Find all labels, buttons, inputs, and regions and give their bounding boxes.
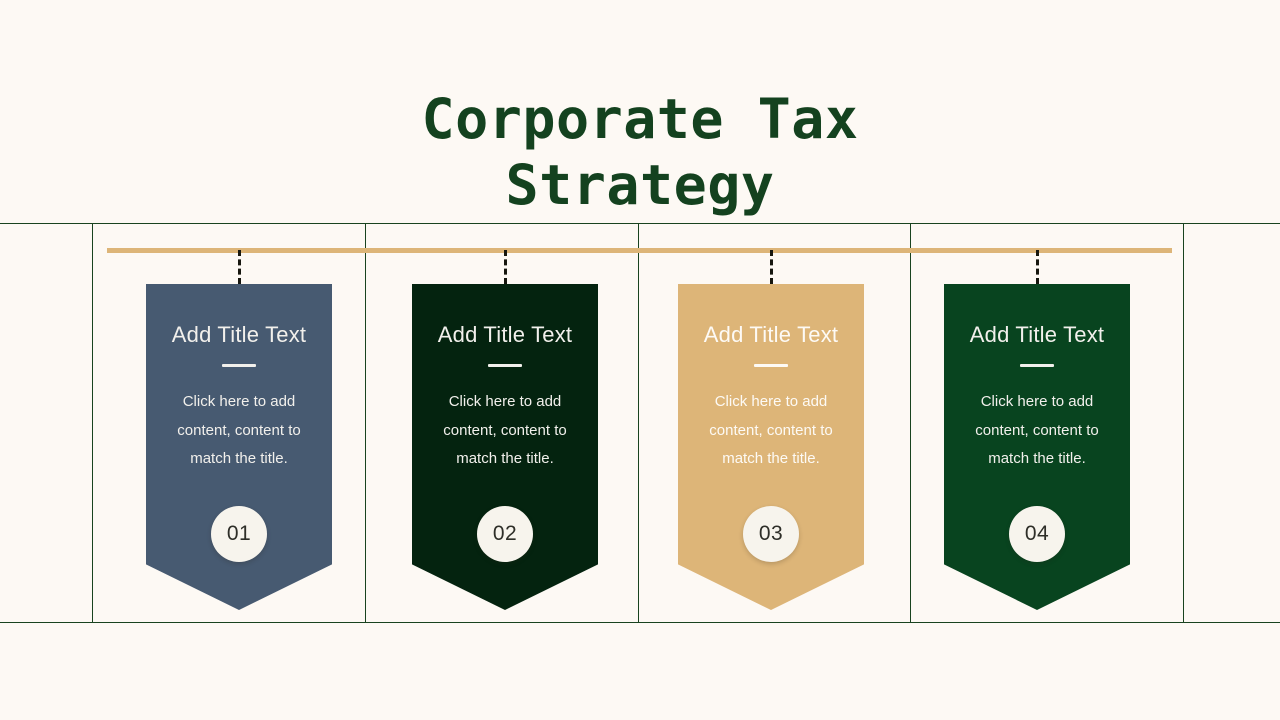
card-body-03: Click here to add content, content to ma… [678, 367, 864, 474]
dashed-connector-icon [1036, 250, 1039, 284]
card-title-04: Add Title Text [944, 284, 1130, 348]
dashed-connector-icon [770, 250, 773, 284]
card-number-badge-04: 04 [1009, 506, 1065, 562]
slide-canvas: Corporate Tax Strategy Add Title Text Cl… [0, 0, 1280, 720]
card-body-01: Click here to add content, content to ma… [146, 367, 332, 474]
card-title-01: Add Title Text [146, 284, 332, 348]
dashed-connector-icon [504, 250, 507, 284]
card-body-04: Click here to add content, content to ma… [944, 367, 1130, 474]
dashed-connector-icon [238, 250, 241, 284]
card-number-badge-02: 02 [477, 506, 533, 562]
card-body-02: Click here to add content, content to ma… [412, 367, 598, 474]
card-title-02: Add Title Text [412, 284, 598, 348]
card-number-badge-03: 03 [743, 506, 799, 562]
card-title-03: Add Title Text [678, 284, 864, 348]
card-group: Add Title Text Click here to add content… [0, 0, 1280, 720]
card-number-badge-01: 01 [211, 506, 267, 562]
